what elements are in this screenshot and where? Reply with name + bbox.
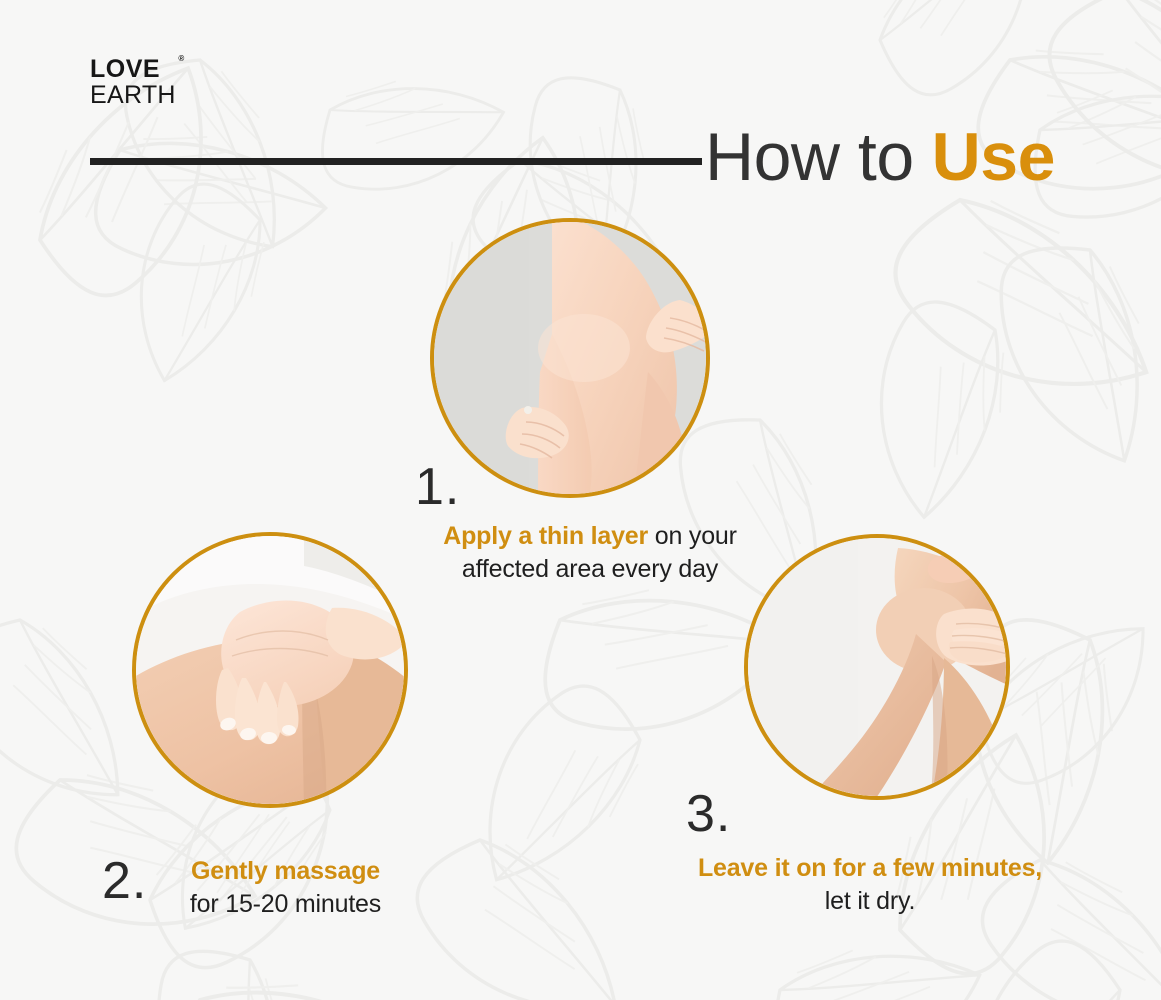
step-2-photo-inner (136, 536, 404, 804)
step-2-highlight: Gently massage (168, 855, 403, 888)
step-2-plain: for 15-20 minutes (168, 888, 403, 921)
step-1-number: 1. (415, 461, 460, 513)
page-title: How to Use (705, 112, 1055, 202)
step-1-photo-inner (434, 222, 706, 494)
step-3-plain: let it dry. (660, 885, 1080, 918)
page-title-bold: Use (932, 118, 1055, 196)
step-1-caption: Apply a thin layer on your affected area… (410, 520, 770, 586)
step-3-photo (744, 534, 1010, 800)
step-3-caption: Leave it on for a few minutes, let it dr… (660, 852, 1080, 918)
infographic-page: LOVE® EARTH How to Use (0, 0, 1161, 1000)
brand-logo: LOVE® EARTH (90, 57, 176, 108)
step-3-highlight: Leave it on for a few minutes, (660, 852, 1080, 885)
step-2-illustration (136, 536, 404, 804)
brand-logo-earth: EARTH (90, 83, 176, 108)
step-3-number: 3. (686, 788, 731, 840)
registered-trademark-icon: ® (178, 55, 184, 63)
brand-logo-love-text: LOVE (90, 55, 160, 83)
step-1-illustration (434, 222, 706, 494)
step-3-photo-inner (748, 538, 1006, 796)
step-1-photo (430, 218, 710, 498)
step-3-illustration (748, 538, 1006, 796)
step-1-highlight: Apply a thin layer (443, 522, 648, 550)
header-rule-divider (90, 158, 702, 165)
brand-logo-love: LOVE® (90, 57, 176, 82)
page-title-light: How to (705, 118, 914, 196)
step-2-number: 2. (102, 855, 147, 907)
step-2-photo (132, 532, 408, 808)
step-2-caption: Gently massage for 15-20 minutes (168, 855, 403, 921)
